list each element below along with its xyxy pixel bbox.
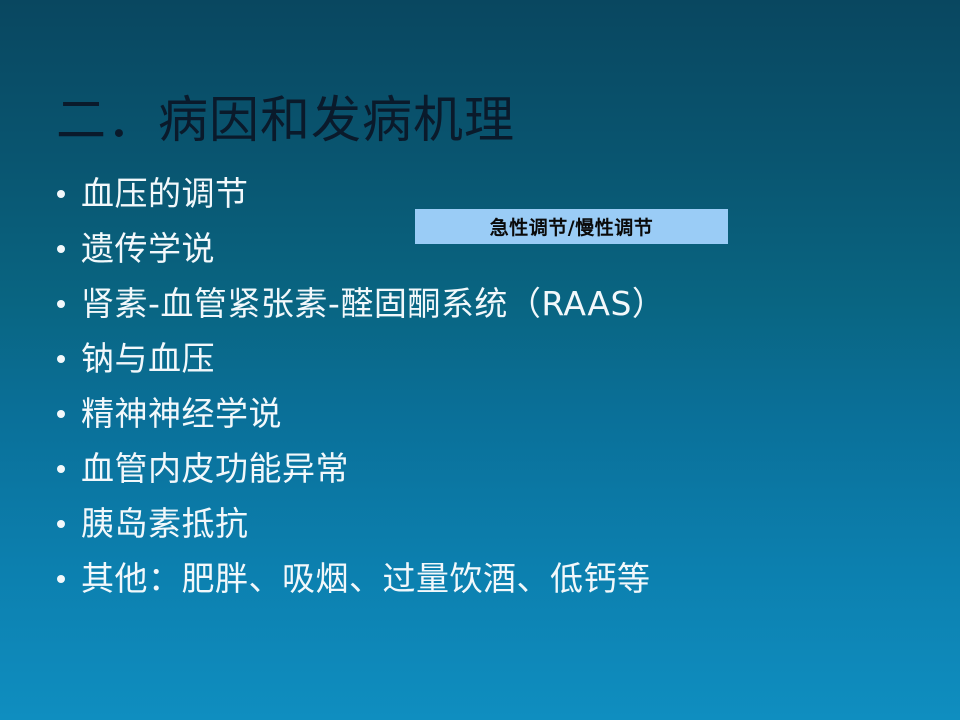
page-title: 二．病因和发病机理 [56, 92, 515, 150]
list-item-label: 血压的调节 [81, 174, 249, 213]
list-item: 精神神经学说 [50, 386, 910, 441]
list-item: 胰岛素抵抗 [50, 496, 910, 551]
list-item: 肾素-血管紧张素-醛固酮系统（RAAS） [50, 276, 910, 331]
list-item-label: 胰岛素抵抗 [81, 504, 249, 543]
list-item: 血管内皮功能异常 [50, 441, 910, 496]
list-item-label: 精神神经学说 [81, 394, 282, 433]
slide-canvas: 二．病因和发病机理 血压的调节 遗传学说 肾素-血管紧张素-醛固酮系统（RAAS… [0, 0, 960, 720]
list-item-label: 血管内皮功能异常 [81, 449, 349, 488]
list-item-label: 钠与血压 [81, 339, 215, 378]
callout-label: 急性调节/慢性调节 [490, 213, 653, 240]
list-item: 其他：肥胖、吸烟、过量饮酒、低钙等 [50, 551, 910, 606]
list-item-label: 遗传学说 [81, 229, 215, 268]
callout-box: 急性调节/慢性调节 [415, 209, 728, 244]
list-item-label: 肾素-血管紧张素-醛固酮系统（RAAS） [81, 284, 665, 323]
list-item-label: 其他：肥胖、吸烟、过量饮酒、低钙等 [81, 559, 651, 598]
list-item: 钠与血压 [50, 331, 910, 386]
